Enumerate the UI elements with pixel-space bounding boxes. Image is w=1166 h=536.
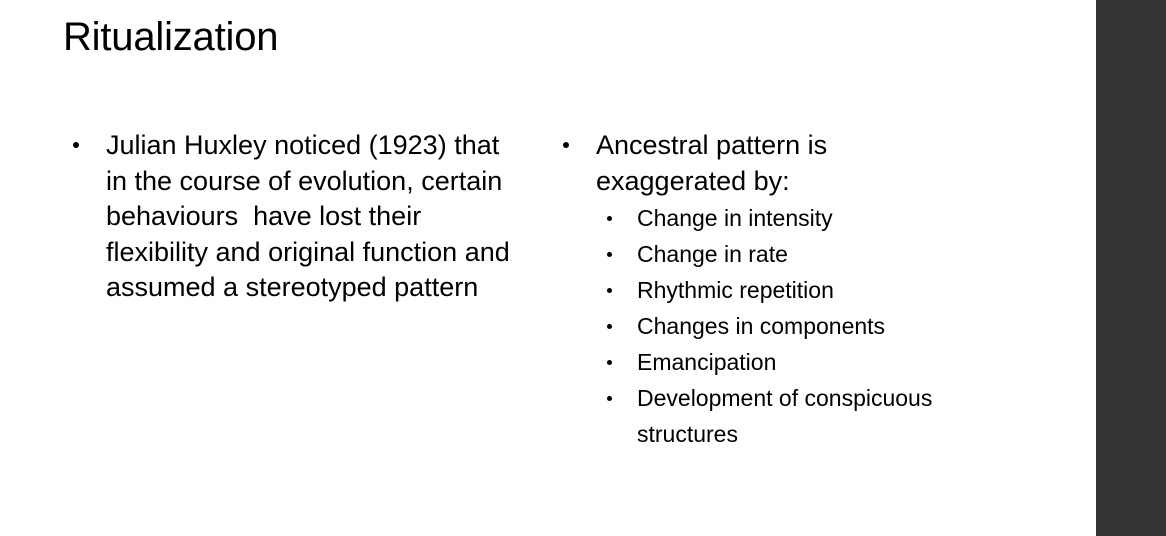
list-item-label: Development of conspicuous structures xyxy=(637,380,972,452)
bullet-item-label: Ancestral pattern is exaggerated by: xyxy=(596,128,876,199)
sub-bullet-dot-icon xyxy=(607,216,612,221)
list-item: Change in rate xyxy=(554,236,1024,272)
bullet-dot-icon xyxy=(563,142,569,148)
sub-bullet-dot-icon xyxy=(607,252,612,257)
list-item: Change in intensity xyxy=(554,200,1024,236)
list-item-label: Emancipation xyxy=(637,344,972,380)
sub-bullet-dot-icon xyxy=(607,396,612,401)
list-item-label: Change in intensity xyxy=(637,200,972,236)
bullet-dot-icon xyxy=(73,142,79,148)
presentation-slide: Ritualization Julian Huxley noticed (192… xyxy=(0,0,1166,536)
sub-bullet-dot-icon xyxy=(607,360,612,365)
page-title: Ritualization xyxy=(63,12,278,62)
content-column-left: Julian Huxley noticed (1923) that in the… xyxy=(64,128,524,306)
bullet-item-label: Julian Huxley noticed (1923) that in the… xyxy=(106,128,518,306)
sub-bullet-dot-icon xyxy=(607,288,612,293)
sub-bullet-list: Change in intensity Change in rate Rhyth… xyxy=(554,200,1024,452)
list-item: Rhythmic repetition xyxy=(554,272,1024,308)
list-item-label: Rhythmic repetition xyxy=(637,272,972,308)
list-item: Changes in components xyxy=(554,308,1024,344)
bullet-item: Julian Huxley noticed (1923) that in the… xyxy=(64,128,524,306)
list-item: Emancipation xyxy=(554,344,1024,380)
sub-bullet-dot-icon xyxy=(607,324,612,329)
content-column-right: Ancestral pattern is exaggerated by: Cha… xyxy=(554,128,1024,452)
slide-accent-panel xyxy=(1096,0,1166,536)
list-item: Development of conspicuous structures xyxy=(554,380,1024,452)
slide-body: Julian Huxley noticed (1923) that in the… xyxy=(0,128,1096,528)
list-item-label: Change in rate xyxy=(637,236,972,272)
bullet-item: Ancestral pattern is exaggerated by: xyxy=(554,128,1024,199)
list-item-label: Changes in components xyxy=(637,308,972,344)
